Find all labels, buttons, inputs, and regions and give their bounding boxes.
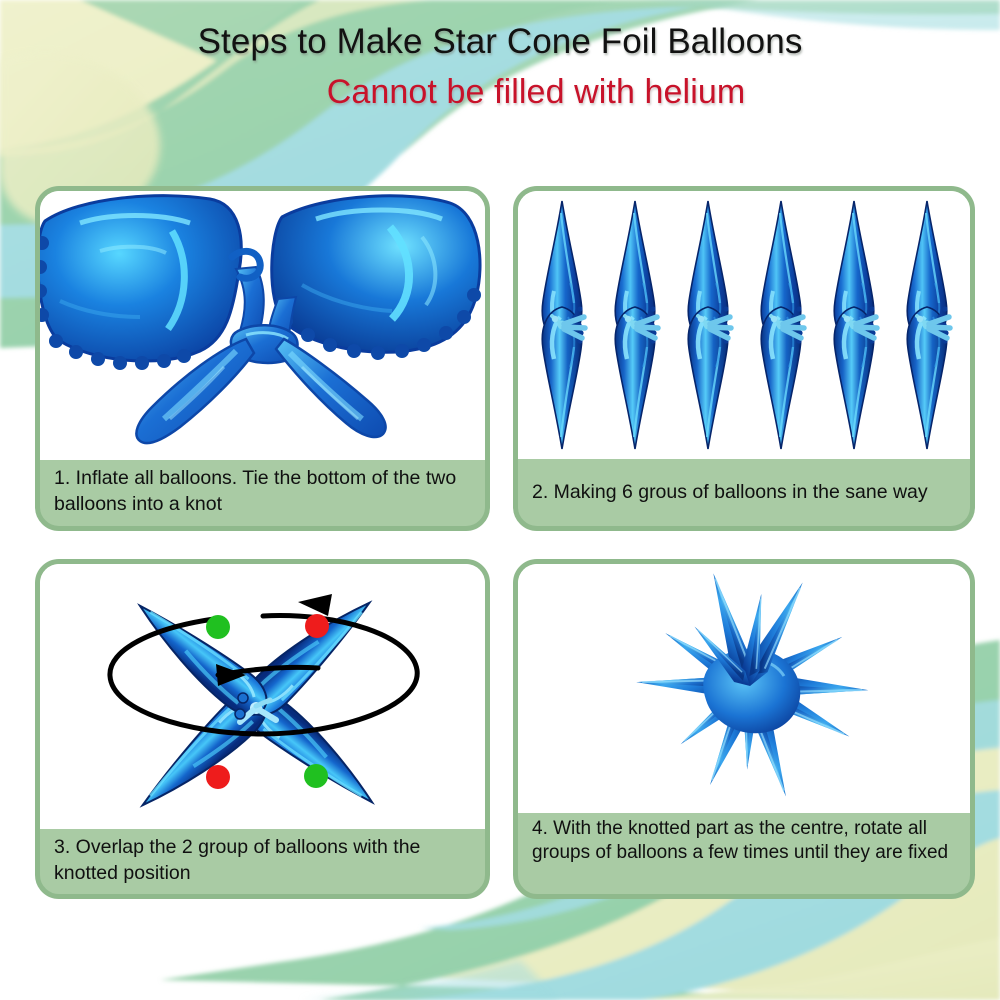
- marker-dot-green: [206, 615, 230, 639]
- steps-grid: 1. Inflate all balloons. Tie the bottom …: [0, 0, 1000, 1000]
- step-1-caption: 1. Inflate all balloons. Tie the bottom …: [40, 460, 485, 526]
- warning-text: Cannot be filled with helium: [0, 73, 1000, 111]
- step-1-illustration: [40, 191, 485, 460]
- marker-dot-green: [304, 764, 328, 788]
- step-3-caption: 3. Overlap the 2 group of balloons with …: [40, 829, 485, 894]
- step-4-caption: 4. With the knotted part as the centre, …: [518, 813, 970, 894]
- step-4-illustration: [518, 564, 970, 813]
- step-panel-1[interactable]: 1. Inflate all balloons. Tie the bottom …: [35, 186, 490, 531]
- step-panel-3[interactable]: 3. Overlap the 2 group of balloons with …: [35, 559, 490, 899]
- step-2-caption: 2. Making 6 grous of balloons in the san…: [518, 459, 970, 526]
- step-2-illustration: [518, 191, 970, 459]
- page-title: Steps to Make Star Cone Foil Balloons: [0, 22, 1000, 61]
- marker-dot-red: [206, 765, 230, 789]
- step-3-illustration: [40, 564, 485, 829]
- marker-dot-red: [305, 614, 329, 638]
- product-instruction-graphic: Steps to Make Star Cone Foil Balloons Ca…: [0, 0, 1000, 1000]
- step-panel-4[interactable]: 4. With the knotted part as the centre, …: [513, 559, 975, 899]
- title-block: Steps to Make Star Cone Foil Balloons Ca…: [0, 22, 1000, 111]
- step-panel-2[interactable]: 2. Making 6 grous of balloons in the san…: [513, 186, 975, 531]
